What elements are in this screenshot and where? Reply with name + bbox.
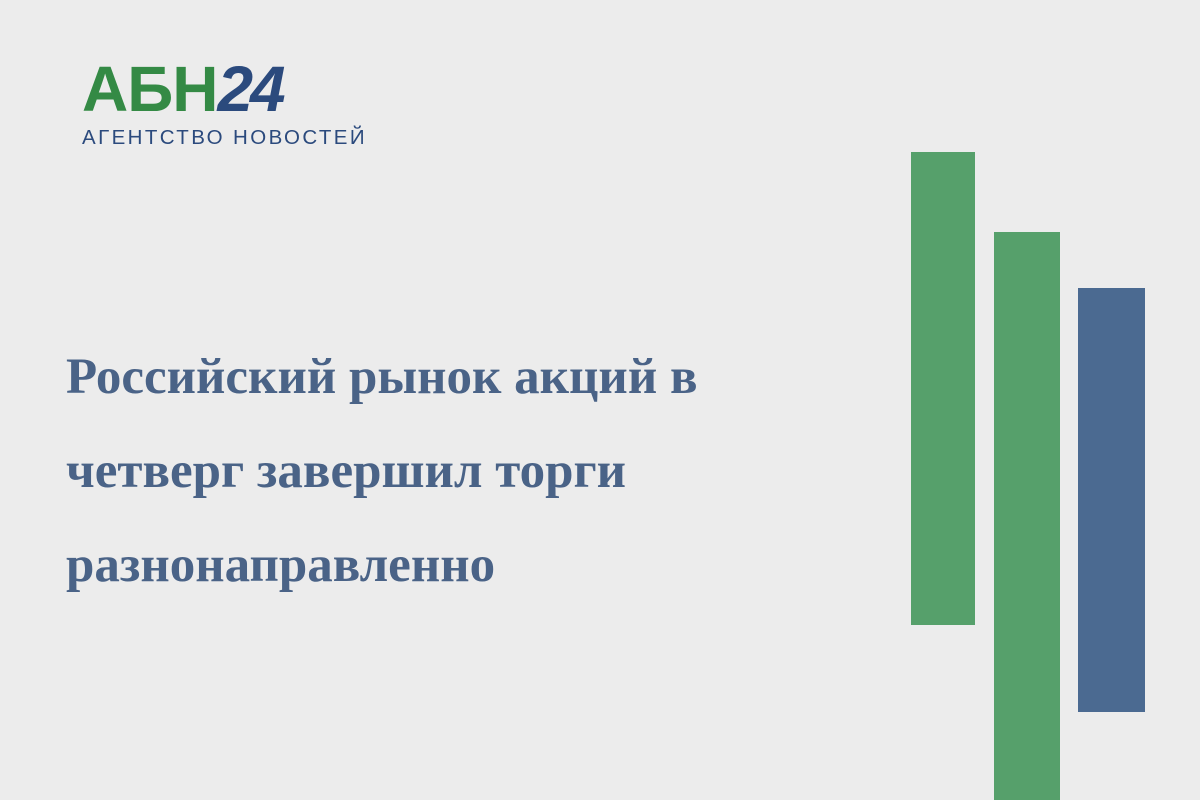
logo-wordmark: АБН24 — [82, 58, 382, 120]
bar-chart-column-1 — [911, 152, 975, 625]
bar-chart-column-3 — [1078, 288, 1145, 712]
logo-tagline: АГЕНТСТВО НОВОСТЕЙ — [82, 126, 382, 150]
abn24-logo[interactable]: АБН24 АГЕНТСТВО НОВОСТЕЙ — [82, 58, 382, 150]
headline-line-1: Российский рынок акций в — [66, 330, 876, 424]
news-card: АБН24 АГЕНТСТВО НОВОСТЕЙ Российский рыно… — [0, 0, 1200, 800]
bar-chart-column-2 — [994, 232, 1060, 800]
headline-line-2: четверг завершил торги — [66, 424, 876, 518]
headline-line-3: разнонаправленно — [66, 518, 876, 612]
logo-wordmark-24: 24 — [217, 53, 282, 125]
headline: Российский рынок акций в четверг заверши… — [66, 330, 876, 612]
logo-wordmark-abn: АБН — [82, 53, 217, 125]
